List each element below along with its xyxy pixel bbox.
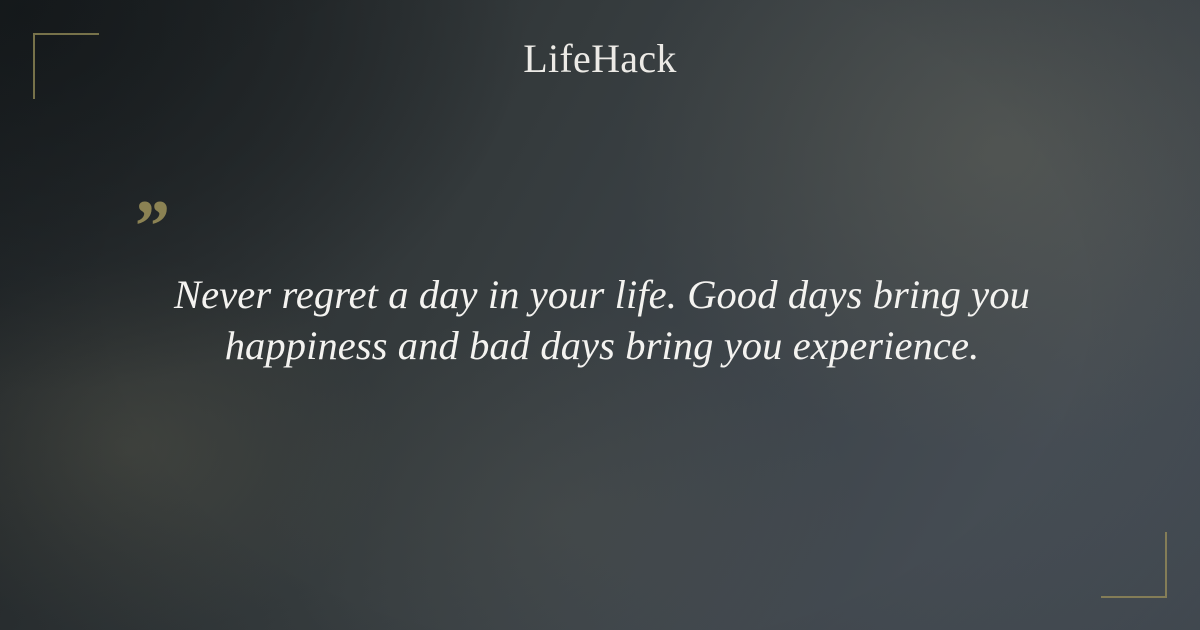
quotation-mark-icon: ”: [131, 190, 167, 264]
brand-name: LifeHack: [523, 39, 676, 79]
brand-logo: LifeHack: [0, 39, 1200, 79]
quote-text: Never regret a day in your life. Good da…: [150, 269, 1054, 371]
corner-bracket-bottom-right-icon: [1101, 532, 1167, 598]
quote-card: LifeHack ” Never regret a day in your li…: [0, 0, 1200, 630]
